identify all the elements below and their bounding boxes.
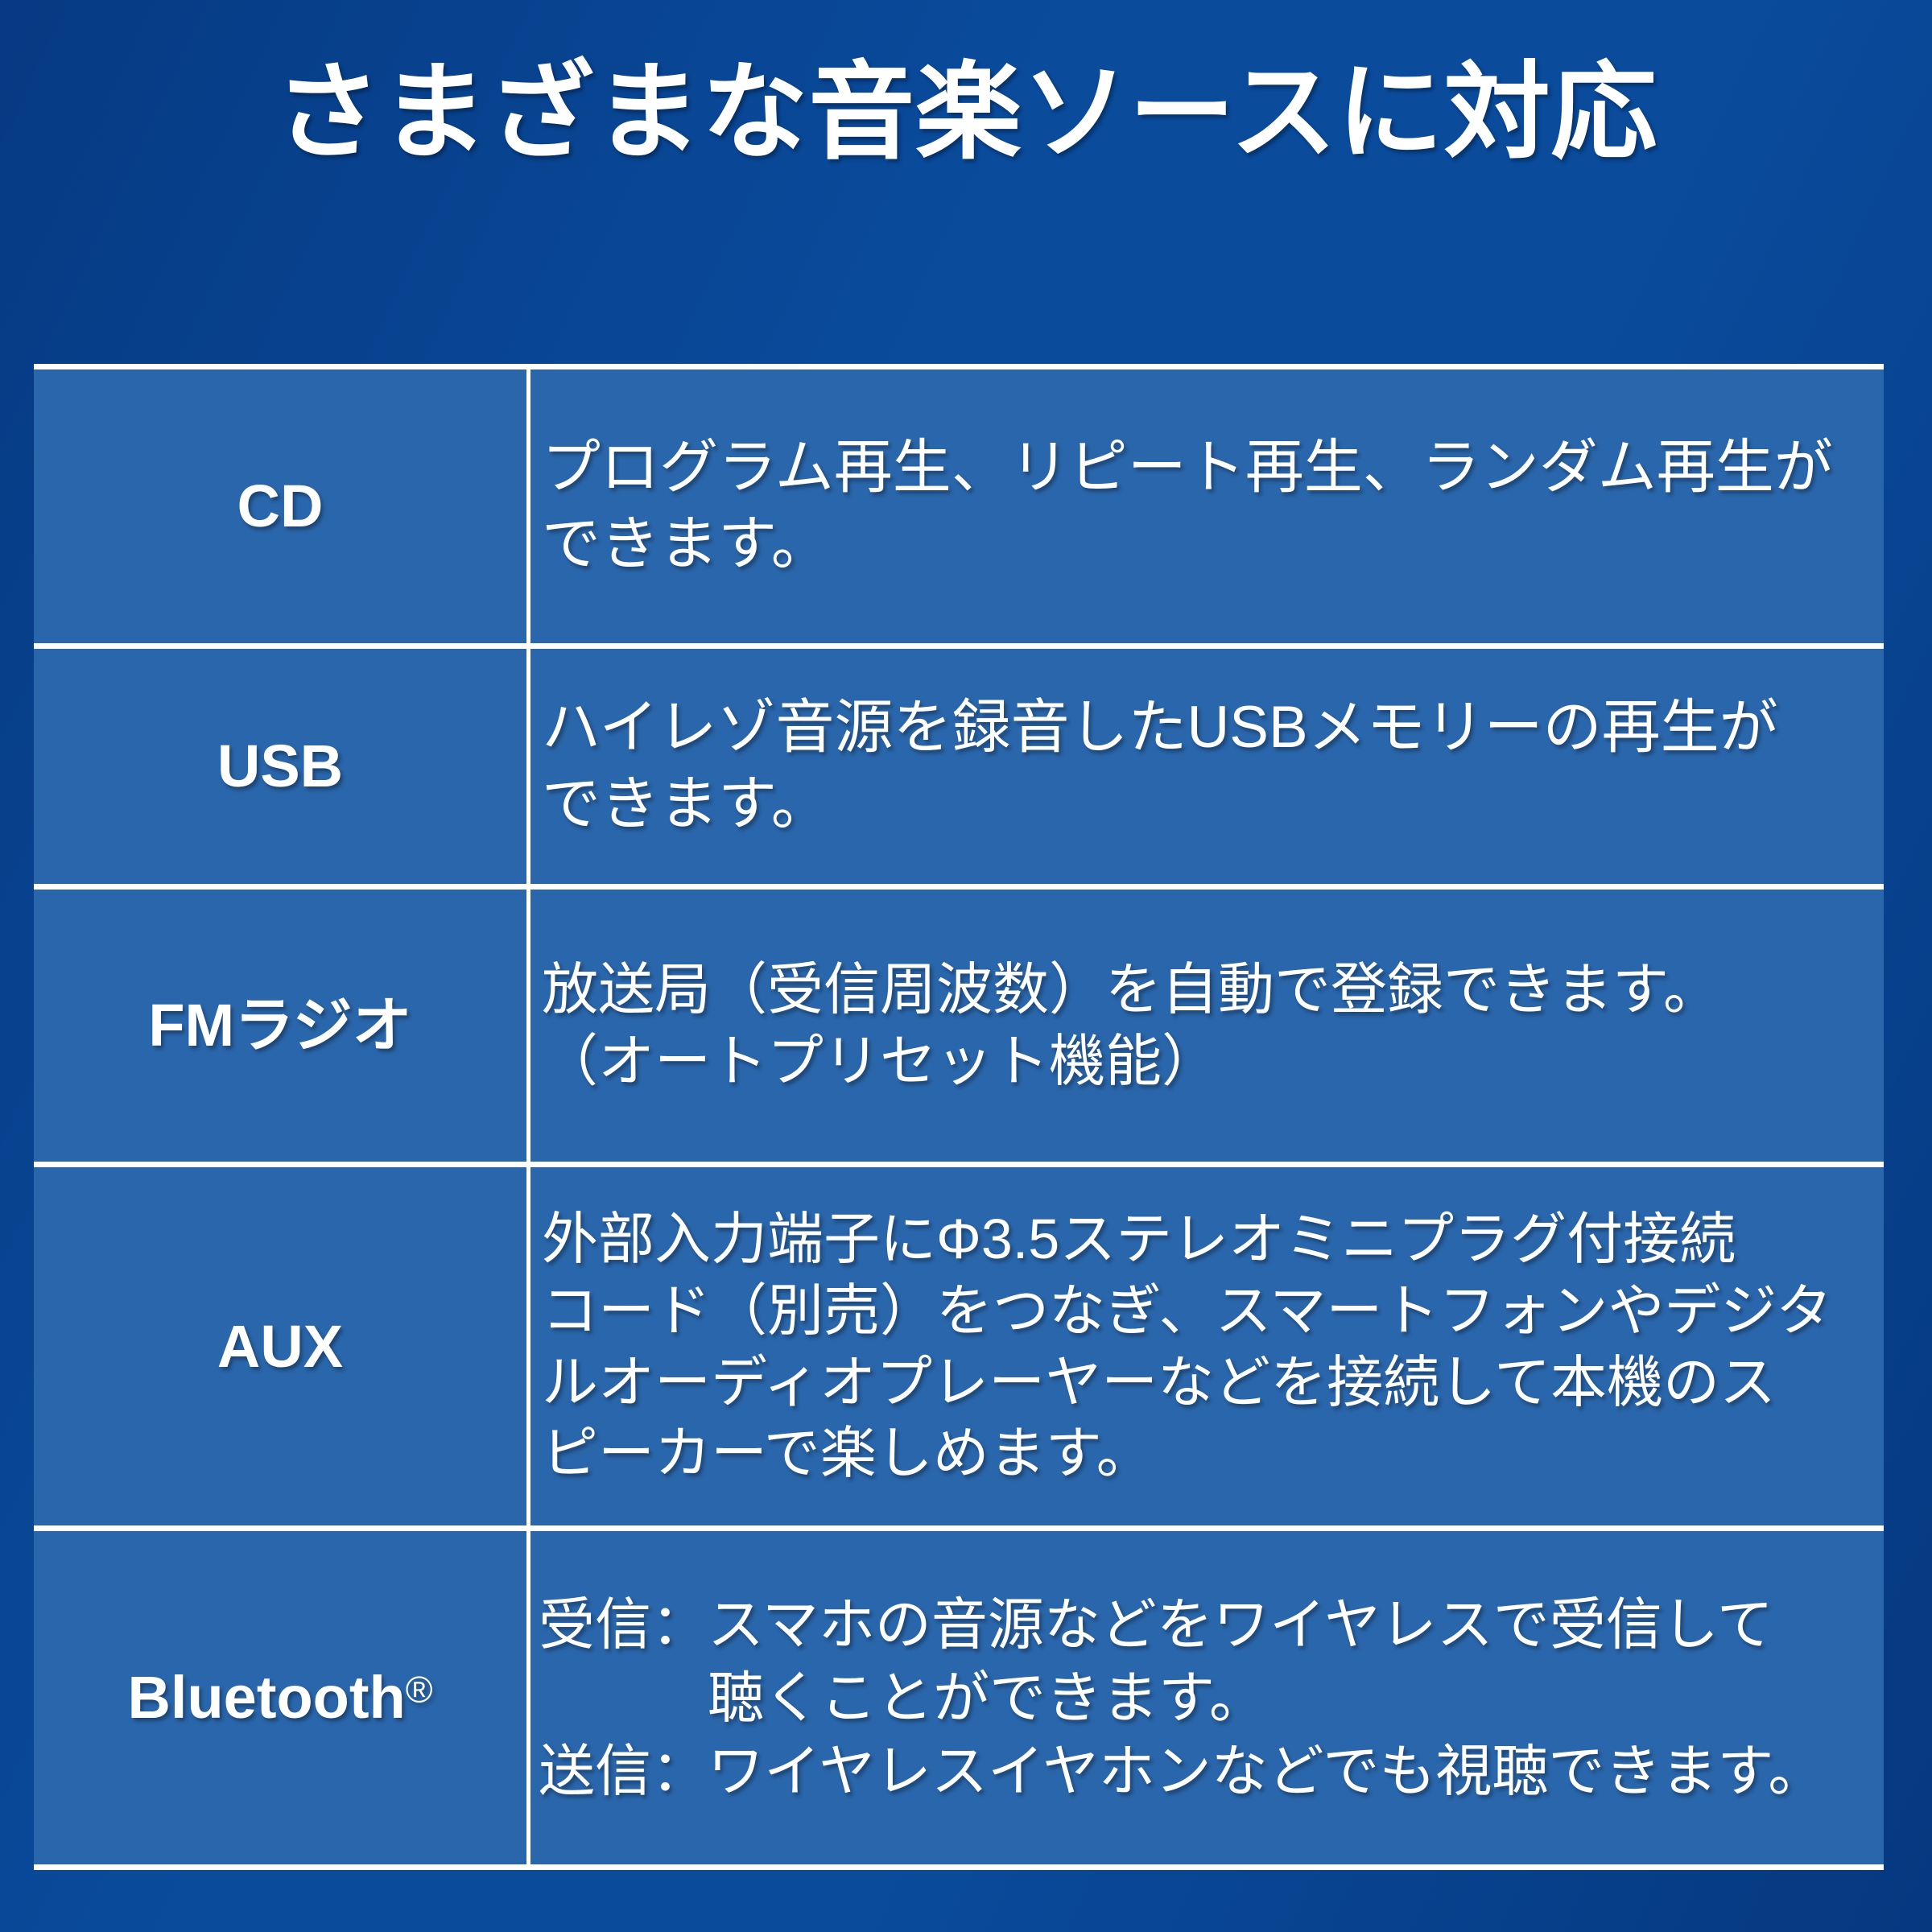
source-desc-cell-cd: プログラム再生、リピート再生、ランダム再生が できます。 [529, 367, 1885, 646]
source-label-bluetooth-text: Bluetooth [127, 1664, 405, 1731]
registered-trademark-icon: ® [406, 1669, 433, 1711]
source-label-cell-cd: CD [34, 367, 529, 646]
source-label-cell-aux: AUX [34, 1165, 529, 1529]
source-desc-cell-fm-radio: 放送局（受信周波数）を自動で登録できます。 （オートプリセット機能） [529, 887, 1885, 1165]
table-row-aux: AUX 外部入力端子にΦ3.5ステレオミニプラグ付接続 コード（別売）をつなぎ、… [34, 1165, 1884, 1529]
source-description-fm-radio: 放送局（受信周波数）を自動で登録できます。 （オートプリセット機能） [530, 941, 1884, 1110]
source-label-cell-fm-radio: FMラジオ [34, 887, 529, 1165]
source-description-bluetooth: 受信：スマホの音源などをワイヤレスで受信して 聴くことができます。 送信：ワイヤ… [530, 1575, 1884, 1821]
table-row-usb: USB ハイレゾ音源を録音したUSBメモリーの再生が できます。 [34, 646, 1884, 887]
source-desc-cell-usb: ハイレゾ音源を録音したUSBメモリーの再生が できます。 [529, 646, 1885, 887]
source-description-usb: ハイレゾ音源を録音したUSBメモリーの再生が できます。 [530, 677, 1884, 856]
source-label-fm-radio: FMラジオ [34, 993, 526, 1058]
source-label-cd: CD [34, 473, 526, 539]
table-row-bluetooth: Bluetooth® 受信：スマホの音源などをワイヤレスで受信して 聴くことがで… [34, 1529, 1884, 1868]
source-description-aux: 外部入力端子にΦ3.5ステレオミニプラグ付接続 コード（別売）をつなぎ、スマート… [530, 1191, 1884, 1503]
page-title: さまざまな音楽ソースに対応 [0, 50, 1932, 175]
source-desc-cell-aux: 外部入力端子にΦ3.5ステレオミニプラグ付接続 コード（別売）をつなぎ、スマート… [529, 1165, 1885, 1529]
source-label-bluetooth: Bluetooth® [34, 1665, 526, 1730]
table-row-fm-radio: FMラジオ 放送局（受信周波数）を自動で登録できます。 （オートプリセット機能） [34, 887, 1884, 1165]
source-label-usb: USB [34, 733, 526, 799]
source-description-cd: プログラム再生、リピート再生、ランダム再生が できます。 [530, 417, 1884, 596]
source-label-cell-usb: USB [34, 646, 529, 887]
source-desc-cell-bluetooth: 受信：スマホの音源などをワイヤレスで受信して 聴くことができます。 送信：ワイヤ… [529, 1529, 1885, 1868]
music-source-table: CD プログラム再生、リピート再生、ランダム再生が できます。 USB ハイレゾ… [34, 364, 1884, 1870]
table-row-cd: CD プログラム再生、リピート再生、ランダム再生が できます。 [34, 367, 1884, 646]
source-label-cell-bluetooth: Bluetooth® [34, 1529, 529, 1868]
source-label-aux: AUX [34, 1314, 526, 1379]
